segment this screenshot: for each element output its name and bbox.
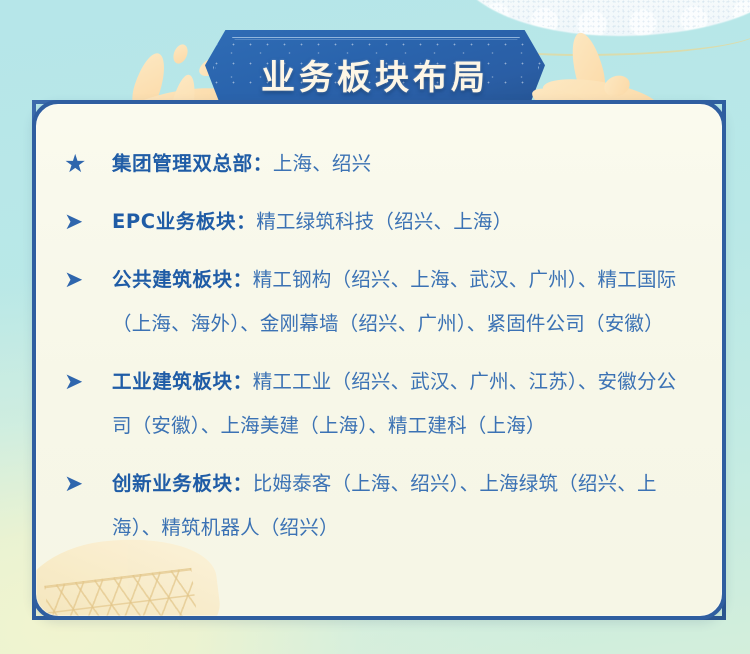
list-item: ➤ EPC业务板块：精工绿筑科技（绍兴、上海） [64, 200, 690, 244]
list-item-text: EPC业务板块：精工绿筑科技（绍兴、上海） [112, 200, 690, 244]
list-item: ➤ 工业建筑板块：精工工业（绍兴、武汉、广州、江苏）、安徽分公司（安徽）、上海美… [64, 360, 690, 448]
arrow-bullet-icon: ➤ [64, 462, 112, 506]
list-item-value: 上海、绍兴 [273, 152, 372, 175]
list-item-label: 创新业务板块： [112, 472, 253, 495]
list-item-text: 公共建筑板块：精工钢构（绍兴、上海、武汉、广州）、精工国际（上海、海外）、金刚幕… [112, 258, 690, 346]
list-item-text: 集团管理双总部：上海、绍兴 [112, 142, 690, 186]
arrow-bullet-icon: ➤ [64, 258, 112, 302]
list-item-text: 工业建筑板块：精工工业（绍兴、武汉、广州、江苏）、安徽分公司（安徽）、上海美建（… [112, 360, 690, 448]
poster-stage: 业务板块布局 ★ 集团管理双总部：上海、绍兴 ➤ EPC业务板块：精工绿筑科技（… [0, 0, 750, 654]
business-segment-list: ★ 集团管理双总部：上海、绍兴 ➤ EPC业务板块：精工绿筑科技（绍兴、上海） … [32, 100, 718, 612]
list-item: ➤ 创新业务板块：比姆泰客（上海、绍兴）、上海绿筑（绍兴、上海）、精筑机器人（绍… [64, 462, 690, 550]
list-item-text: 创新业务板块：比姆泰客（上海、绍兴）、上海绿筑（绍兴、上海）、精筑机器人（绍兴） [112, 462, 690, 550]
list-item-label: 集团管理双总部： [112, 152, 273, 175]
list-item-label: EPC业务板块： [112, 210, 256, 233]
list-item-label: 工业建筑板块： [112, 370, 253, 393]
list-item: ➤ 公共建筑板块：精工钢构（绍兴、上海、武汉、广州）、精工国际（上海、海外）、金… [64, 258, 690, 346]
arrow-bullet-icon: ➤ [64, 200, 112, 244]
star-bullet-icon: ★ [64, 142, 112, 186]
list-item-value: 精工绿筑科技（绍兴、上海） [256, 210, 512, 233]
list-item: ★ 集团管理双总部：上海、绍兴 [64, 142, 690, 186]
list-item-label: 公共建筑板块： [112, 268, 253, 291]
arrow-bullet-icon: ➤ [64, 360, 112, 404]
